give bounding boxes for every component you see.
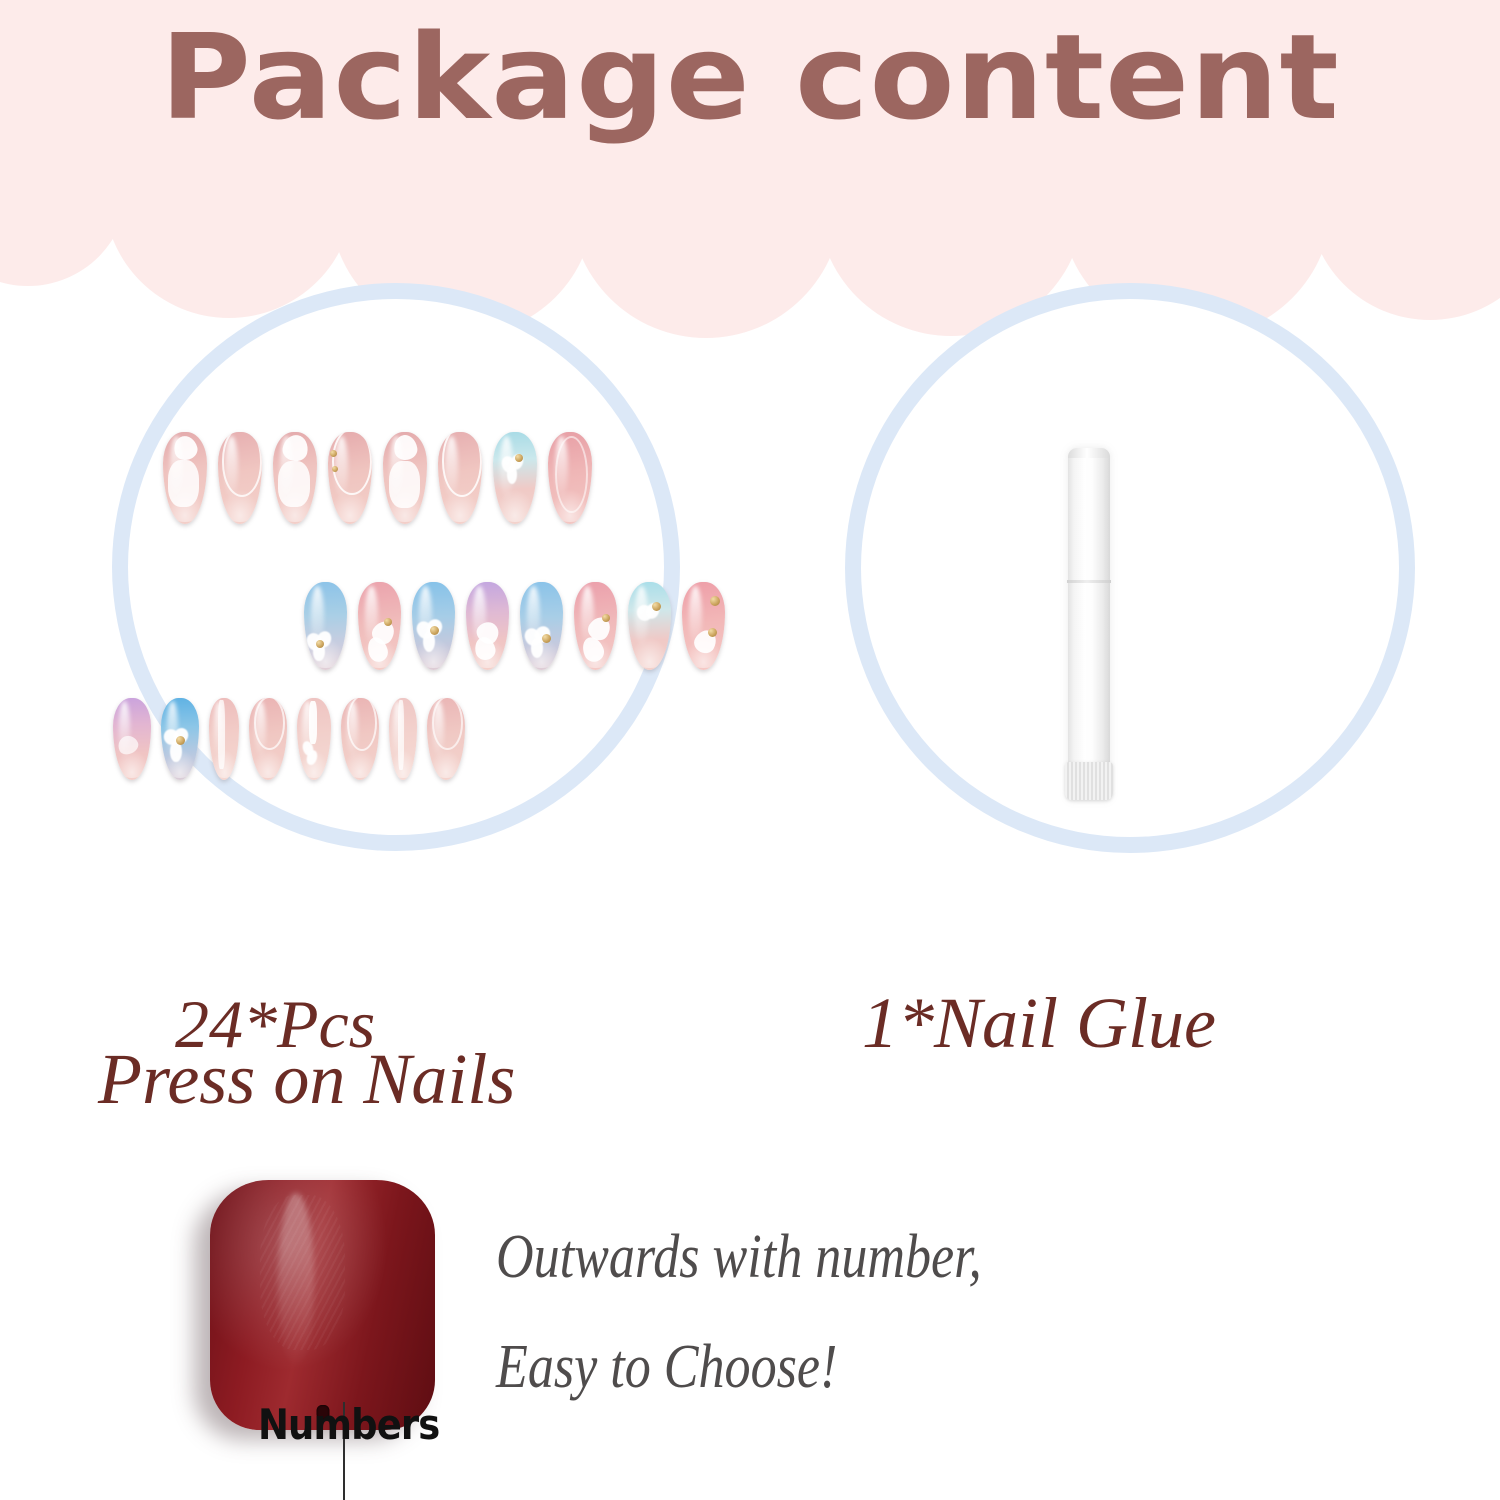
nail-item <box>412 582 455 670</box>
nail-item <box>574 582 617 670</box>
glue-base-cap <box>1065 762 1113 800</box>
nail-item <box>249 698 287 780</box>
numbers-label: Numbers <box>258 1400 439 1449</box>
nail-item <box>493 432 537 524</box>
nail-item <box>341 698 379 780</box>
sample-red-nail <box>210 1180 435 1430</box>
nail-item <box>383 432 427 524</box>
instruction-line-2: Easy to Choose! <box>496 1332 837 1403</box>
nail-glue-pen <box>1068 448 1110 800</box>
nail-item <box>161 698 199 780</box>
nail-item <box>520 582 563 670</box>
red-nail-body <box>210 1180 435 1430</box>
glue-circle-frame <box>845 283 1415 853</box>
nail-item <box>427 698 465 780</box>
nail-item <box>389 698 417 780</box>
nail-item <box>438 432 482 524</box>
instruction-line-1: Outwards with number, <box>496 1222 982 1293</box>
nail-item <box>297 698 331 780</box>
nails-name-caption: Press on Nails <box>98 1038 515 1121</box>
nail-item <box>358 582 401 670</box>
nail-item <box>218 432 262 524</box>
nail-item <box>328 432 372 524</box>
nail-item <box>209 698 239 780</box>
nail-item <box>113 698 151 780</box>
glue-caption: 1*Nail Glue <box>862 982 1216 1065</box>
glue-top-rim <box>1068 448 1110 458</box>
glue-circle-inner <box>861 299 1399 837</box>
nail-item <box>466 582 509 670</box>
nail-row-1 <box>163 432 592 524</box>
nail-item <box>163 432 207 524</box>
nail-row-2 <box>304 582 725 670</box>
glue-barrel <box>1068 448 1110 800</box>
red-nail-gloss <box>278 1193 314 1368</box>
page-title: Package content <box>0 18 1500 136</box>
nail-row-3 <box>113 698 465 780</box>
glue-cap-seam <box>1067 580 1111 583</box>
nail-item <box>273 432 317 524</box>
nail-item <box>304 582 347 670</box>
infographic-root: Package content <box>0 0 1500 1500</box>
nail-item <box>682 582 725 670</box>
nail-item <box>628 582 671 670</box>
nail-item <box>548 432 592 524</box>
